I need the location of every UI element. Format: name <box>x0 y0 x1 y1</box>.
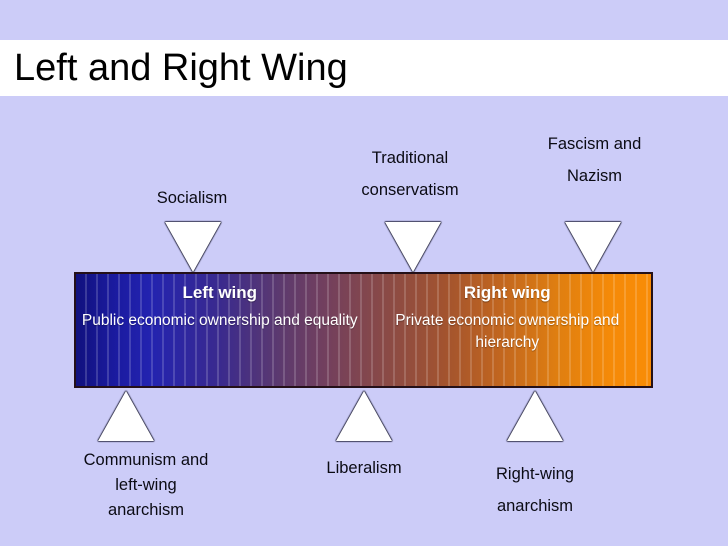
triangle-down-fascism-nazism-icon <box>565 222 621 272</box>
spectrum-right-half: Right wing Private economic ownership an… <box>364 274 652 386</box>
slide-canvas: Left and Right Wing Socialism Traditiona… <box>0 0 728 546</box>
left-wing-description: Public economic ownership and equality <box>76 310 364 332</box>
page-title: Left and Right Wing <box>14 42 348 94</box>
triangle-down-socialism-icon <box>165 222 221 272</box>
top-label-socialism: Socialism <box>122 182 262 214</box>
right-wing-description: Private economic ownership and hierarchy <box>364 310 652 354</box>
left-wing-heading: Left wing <box>76 282 364 304</box>
triangle-up-right-wing-anarchism-icon <box>507 391 563 441</box>
top-label-fascism-nazism: Fascism and Nazism <box>522 128 667 192</box>
bottom-label-communism-anarchism: Communism and left-wing anarchism <box>56 448 236 523</box>
bottom-label-right-wing-anarchism: Right-wing anarchism <box>465 458 605 522</box>
right-wing-heading: Right wing <box>364 282 652 304</box>
triangle-up-communism-icon <box>98 391 154 441</box>
triangle-up-liberalism-icon <box>336 391 392 441</box>
triangle-down-traditional-conservatism-icon <box>385 222 441 272</box>
spectrum-left-half: Left wing Public economic ownership and … <box>76 274 364 386</box>
top-label-traditional-conservatism: Traditional conservatism <box>340 142 480 206</box>
bottom-label-liberalism: Liberalism <box>294 452 434 484</box>
political-spectrum-bar: Left wing Public economic ownership and … <box>74 272 653 388</box>
